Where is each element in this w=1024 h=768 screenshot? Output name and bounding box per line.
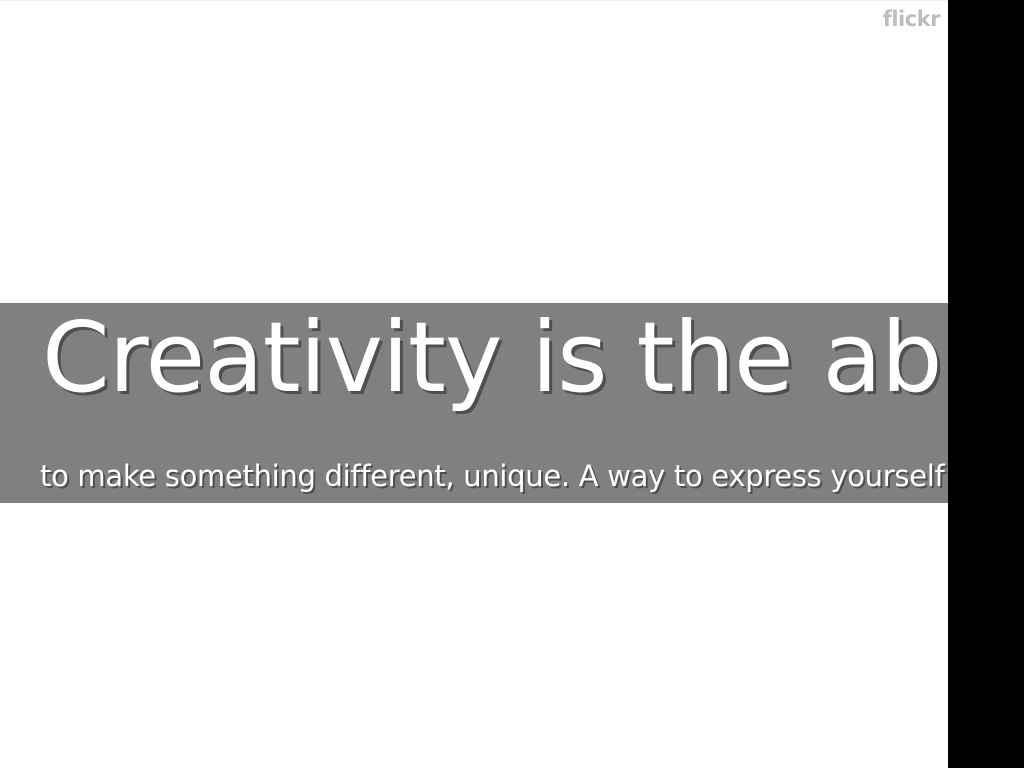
right-letterbox-bar: [948, 0, 1024, 768]
caption-band: [0, 303, 948, 503]
photo-page-stage: This photo is no longer available Creati…: [0, 0, 1024, 768]
flickr-wordmark[interactable]: flickr: [883, 9, 940, 30]
